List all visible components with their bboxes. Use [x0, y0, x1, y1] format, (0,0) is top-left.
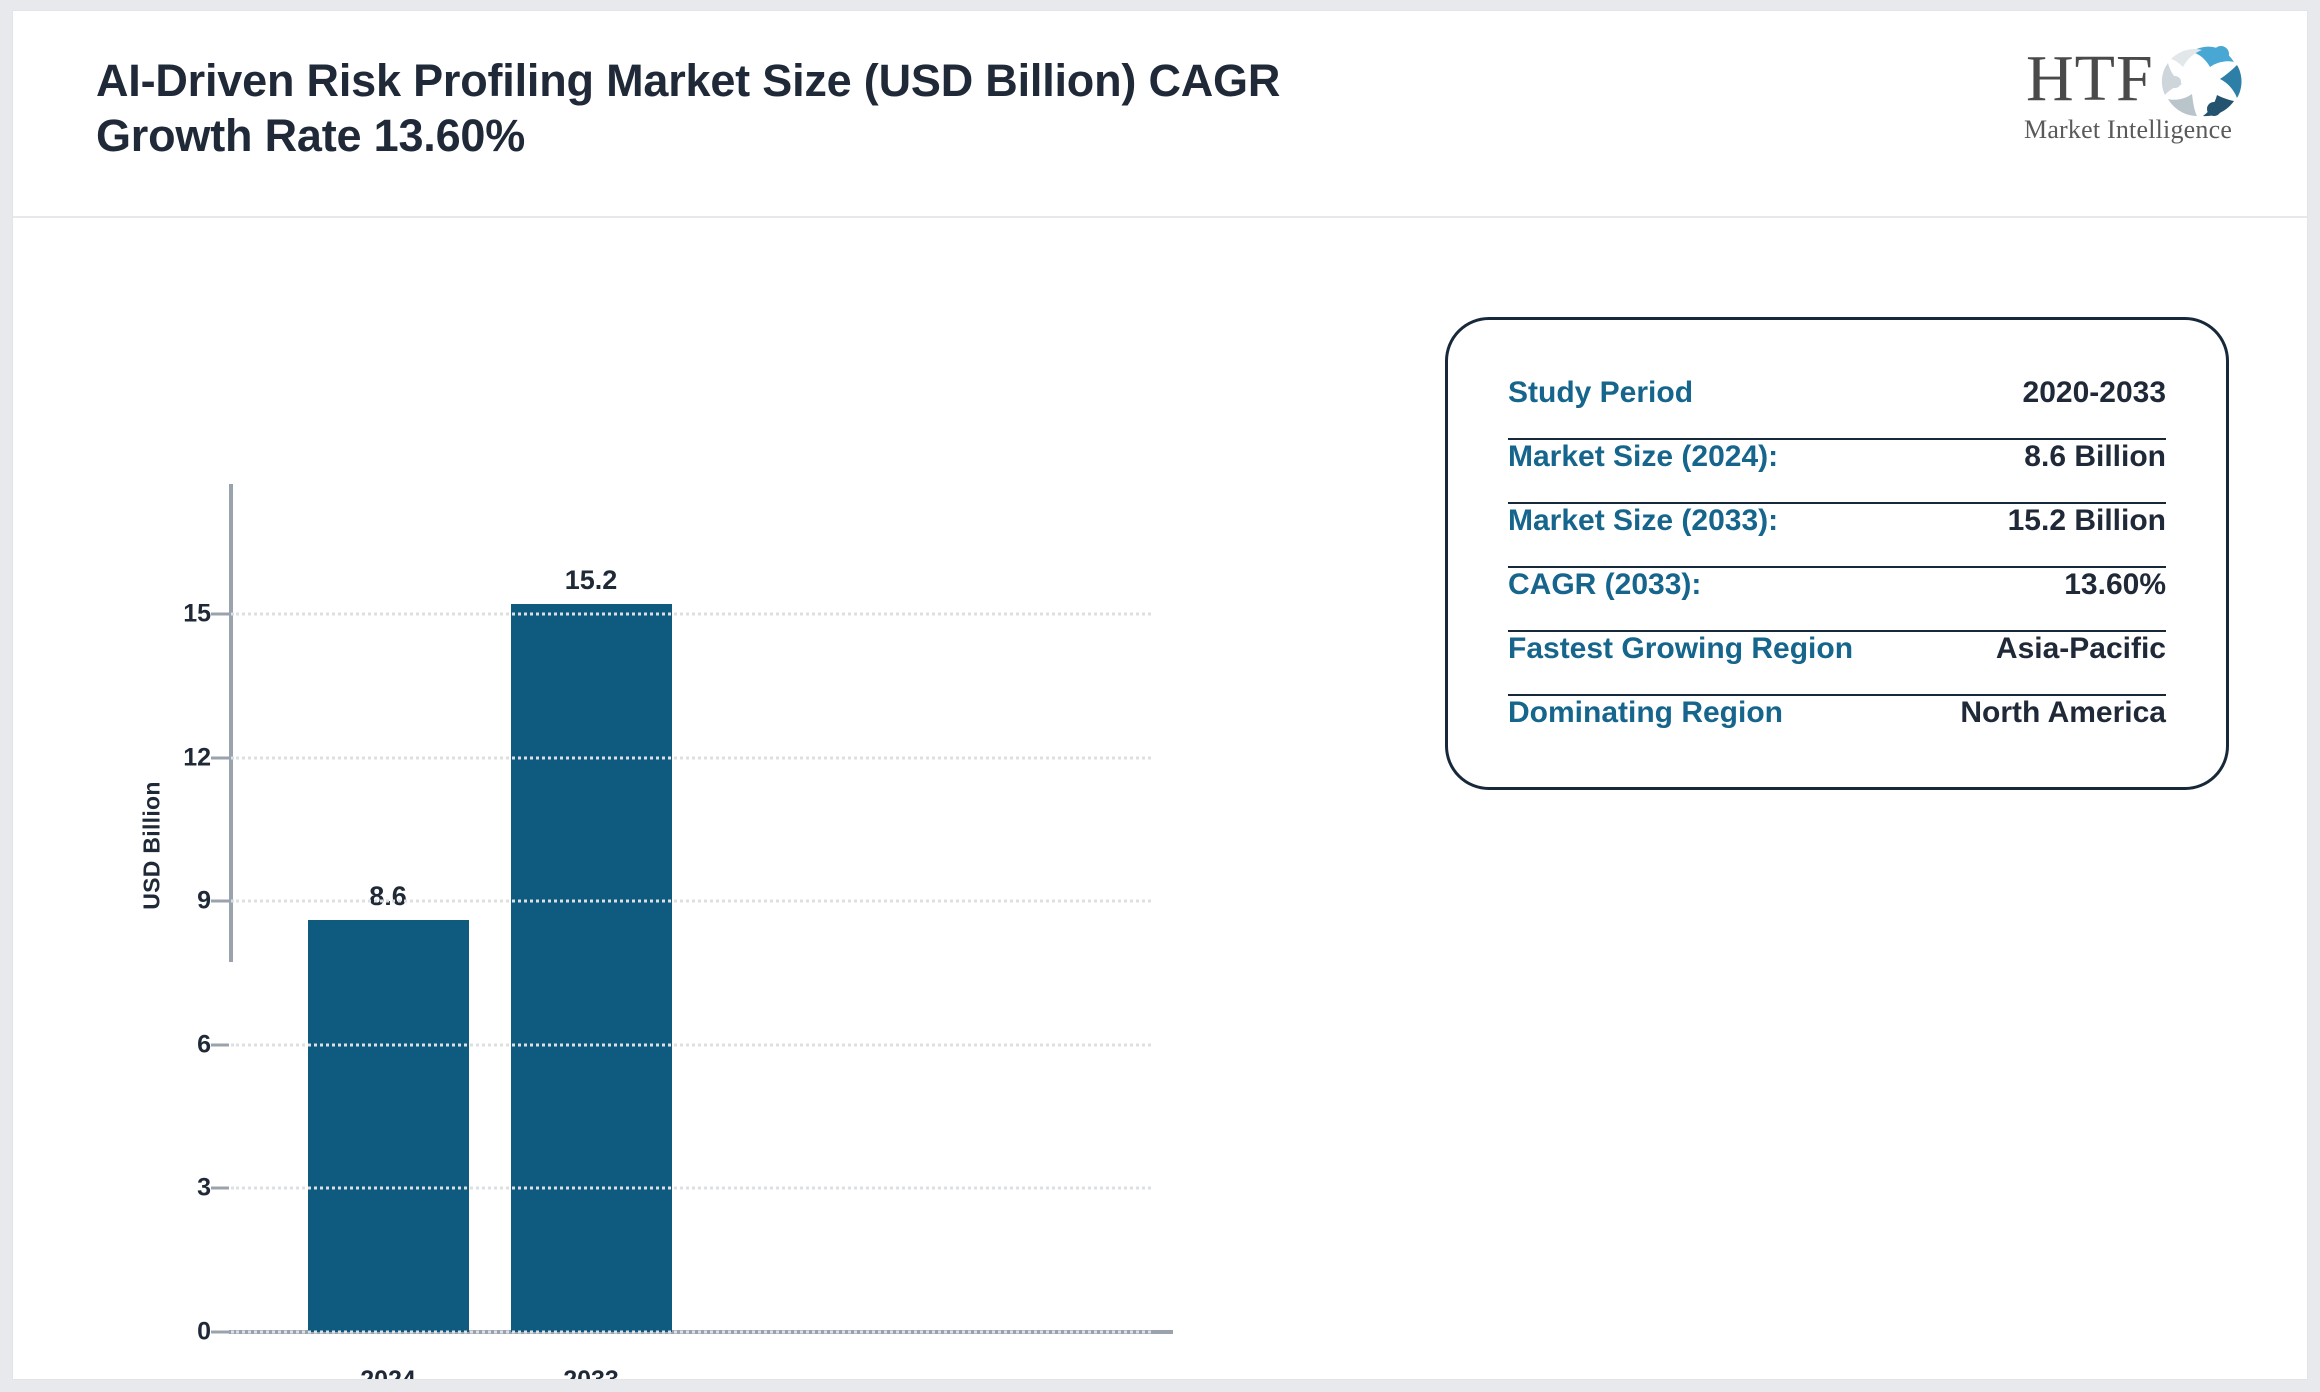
header: AI-Driven Risk Profiling Market Size (US…: [13, 11, 2307, 218]
page-title: AI-Driven Risk Profiling Market Size (US…: [96, 53, 1396, 164]
bar-chart: USD Billion 03691215 8.615.2 20242033: [13, 218, 1263, 1379]
body-area: USD Billion 03691215 8.615.2 20242033 St…: [13, 218, 2307, 1379]
summary-row: Study Period2020-2033: [1508, 376, 2166, 438]
gridline: [231, 756, 1151, 759]
summary-row-value: 2020-2033: [2023, 376, 2166, 410]
y-axis-tick-label: 6: [151, 1030, 211, 1059]
logo-tagline: Market Intelligence: [2024, 115, 2232, 145]
y-axis-tick-label: 3: [151, 1174, 211, 1203]
plot-area: 8.615.2: [233, 614, 1173, 1332]
summary-row-value: Asia-Pacific: [1996, 632, 2166, 666]
y-axis-tick-mark: [211, 1187, 229, 1190]
summary-row-label: Fastest Growing Region: [1508, 632, 1853, 666]
summary-row: CAGR (2033):13.60%: [1508, 568, 2166, 630]
summary-row-label: CAGR (2033):: [1508, 568, 1701, 602]
summary-row: Market Size (2024):8.6 Billion: [1508, 440, 2166, 502]
x-axis-tick-label: 2024: [360, 1366, 416, 1380]
y-axis-tick-mark: [211, 900, 229, 903]
gridline: [231, 1187, 1151, 1190]
gridline: [231, 1331, 1151, 1334]
summary-row: Dominating RegionNorth America: [1508, 696, 2166, 758]
summary-row-value: 15.2 Billion: [2008, 504, 2166, 538]
htf-circular-people-mark-icon: [2142, 43, 2250, 119]
summary-row-value: 13.60%: [2064, 568, 2166, 602]
summary-row-value: North America: [1960, 696, 2166, 730]
y-axis-tick-mark: [211, 613, 229, 616]
summary-row: Market Size (2033):15.2 Billion: [1508, 504, 2166, 566]
summary-row-label: Market Size (2024):: [1508, 440, 1778, 474]
summary-row-label: Dominating Region: [1508, 696, 1783, 730]
bar-value-label: 8.6: [369, 881, 407, 912]
y-axis-tick-label: 9: [151, 887, 211, 916]
logo-row: HTF: [2020, 41, 2255, 119]
gridline: [231, 1043, 1151, 1046]
y-axis-tick-mark: [211, 1043, 229, 1046]
summary-row: Fastest Growing RegionAsia-Pacific: [1508, 632, 2166, 694]
y-axis-tick-label: 15: [151, 600, 211, 629]
brand-logo: HTF: [2020, 41, 2255, 151]
logo-wordmark: HTF: [2026, 45, 2154, 113]
summary-row-label: Market Size (2033):: [1508, 504, 1778, 538]
y-axis-tick-label: 0: [151, 1318, 211, 1347]
bar-value-label: 15.2: [565, 565, 618, 596]
summary-row-value: 8.6 Billion: [2024, 440, 2166, 474]
bar[interactable]: [511, 604, 672, 1332]
x-axis-tick-label: 2033: [563, 1366, 619, 1380]
bar[interactable]: [308, 920, 469, 1332]
y-axis-tick-label: 12: [151, 743, 211, 772]
y-axis-tick-mark: [211, 1331, 229, 1334]
y-axis-tick-labels: 03691215: [143, 218, 211, 1379]
page-background: AI-Driven Risk Profiling Market Size (US…: [0, 0, 2320, 1392]
y-axis-tick-mark: [211, 756, 229, 759]
infographic-card: AI-Driven Risk Profiling Market Size (US…: [12, 10, 2308, 1380]
gridline: [231, 613, 1151, 616]
market-summary-card: Study Period2020-2033Market Size (2024):…: [1445, 317, 2229, 790]
summary-row-label: Study Period: [1508, 376, 1693, 410]
gridline: [231, 900, 1151, 903]
